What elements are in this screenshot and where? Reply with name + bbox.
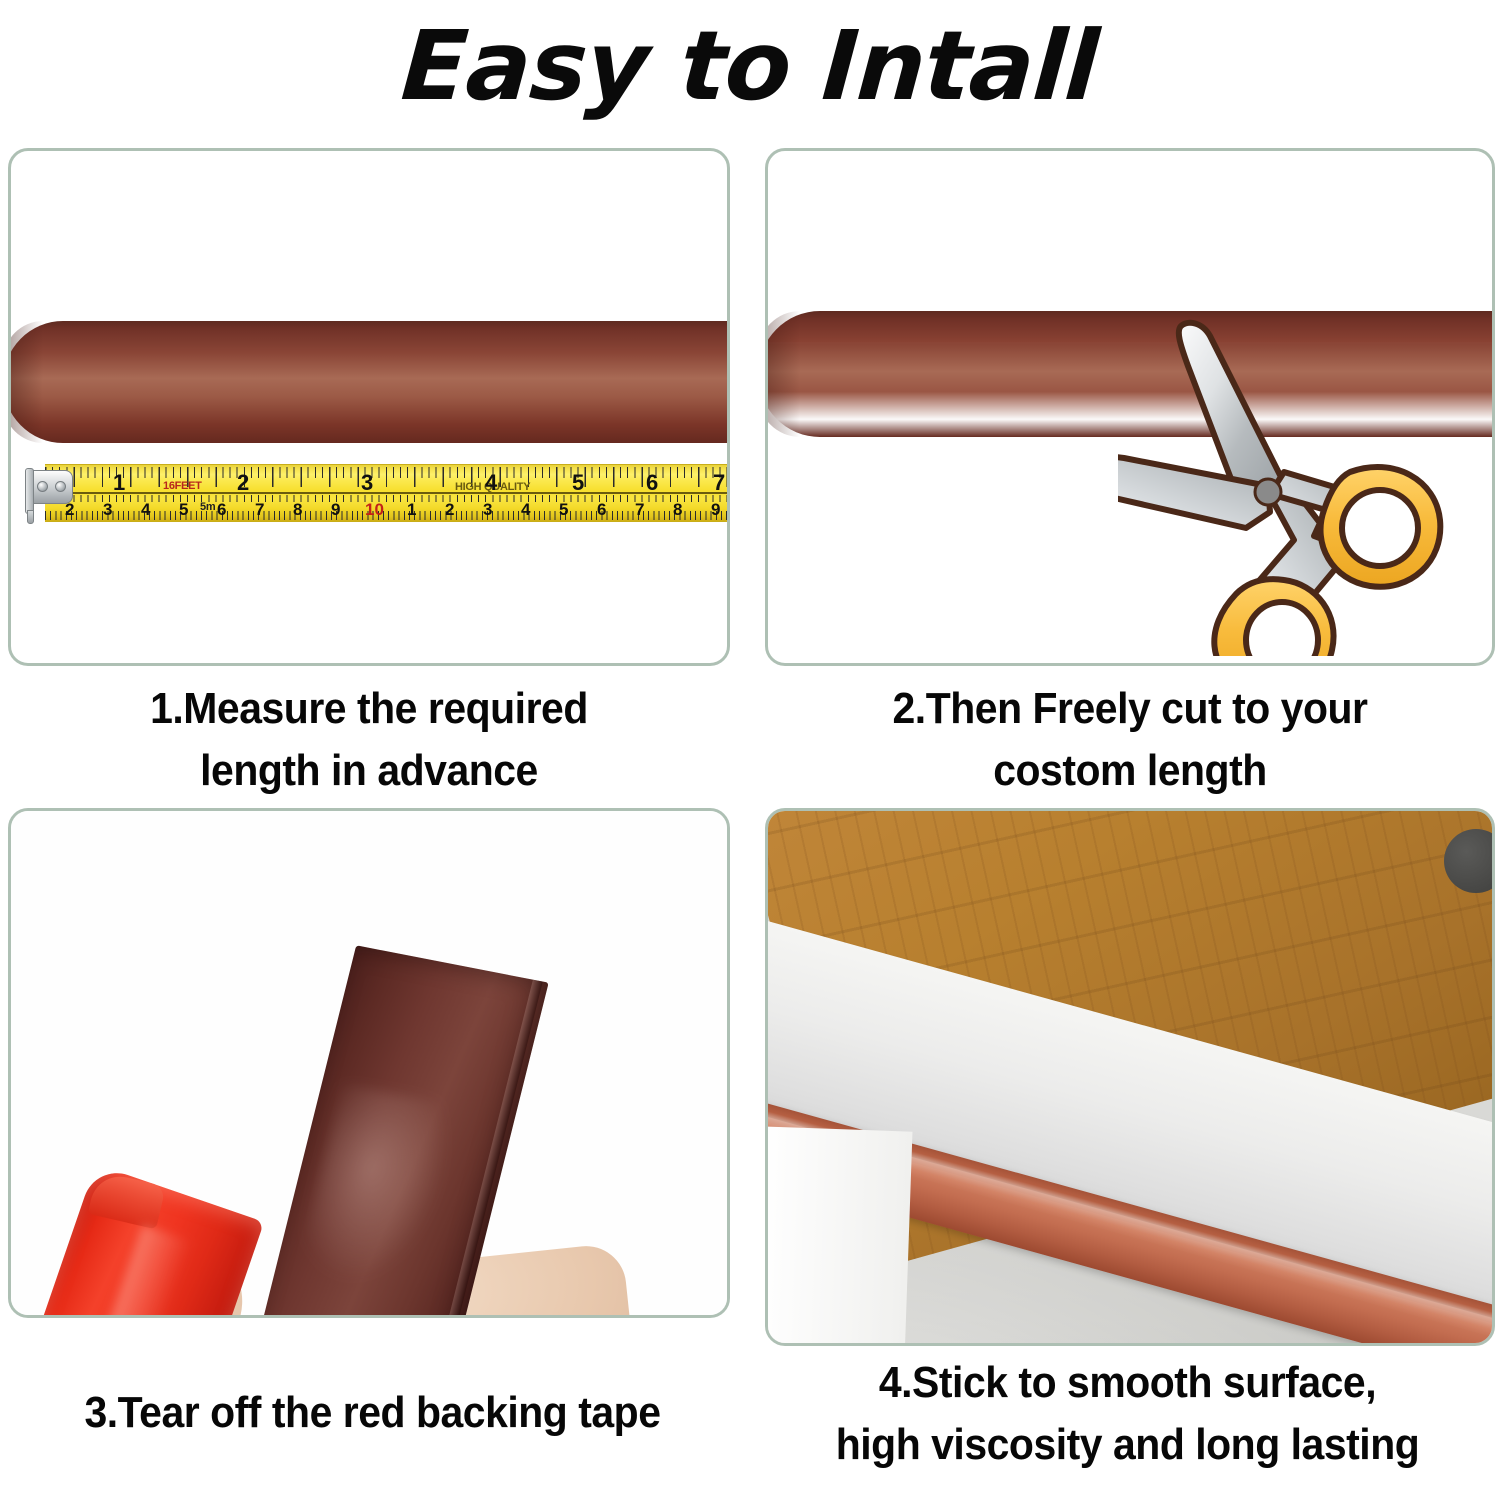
tape-metric-number: 7 [635, 501, 644, 518]
step-panel-cut [765, 148, 1495, 666]
hook-tab [27, 510, 34, 524]
tape-inch-number: 2 [237, 472, 249, 494]
tape-inch-number: 4 [485, 472, 497, 494]
tape-metric-number: 3 [483, 501, 492, 518]
tape-metric-number: 6 [597, 501, 606, 518]
step-caption-stick: 4.Stick to smooth surface, high viscosit… [781, 1352, 1474, 1477]
strip-sheen [295, 1083, 461, 1294]
caption-line-1: 1.Measure the required [33, 678, 704, 740]
tape-metric-number: 1 [407, 501, 416, 518]
step-panel-measure: 16FEET 5m HIGH QUALITY 1 2 3 4 5 6 7 2 3… [8, 148, 730, 666]
tape-inch-number: 6 [646, 472, 658, 494]
page-header: Easy to Intall [0, 0, 1500, 132]
step-caption-cut: 2.Then Freely cut to your costom length [791, 678, 1470, 803]
tape-measure-illustration: 16FEET 5m HIGH QUALITY 1 2 3 4 5 6 7 2 3… [23, 464, 730, 526]
tape-metric-number: 4 [141, 501, 150, 518]
caption-line-1: 2.Then Freely cut to your [791, 678, 1470, 740]
hook-lip [25, 468, 34, 514]
tape-length-metric-label: 5m [200, 502, 215, 513]
step-caption-measure: 1.Measure the required length in advance [33, 678, 704, 803]
tape-metric-number: 5 [559, 501, 568, 518]
backing-tape-sheen [74, 1225, 193, 1318]
caption-line-2: high viscosity and long lasting [781, 1414, 1474, 1476]
backing-tape-fold [88, 1171, 166, 1230]
peel-photo [11, 811, 727, 1315]
tape-ticks-tall [45, 467, 730, 487]
wall-corner [768, 1126, 912, 1343]
tape-metric-number-highlight: 10 [365, 501, 384, 518]
tape-metric-number: 5 [179, 501, 188, 518]
tape-center-line [45, 492, 730, 494]
tape-metric-number: 4 [521, 501, 530, 518]
scissors-icon [1118, 296, 1478, 656]
tape-metric-number: 6 [217, 501, 226, 518]
caption-line-2: length in advance [33, 740, 704, 802]
brown-strip-illustration [8, 321, 730, 443]
step-caption-peel: 3.Tear off the red backing tape [26, 1382, 719, 1444]
caption-line-1: 4.Stick to smooth surface, [781, 1352, 1474, 1414]
tape-metric-number: 9 [331, 501, 340, 518]
tape-measure-hook-icon [23, 468, 73, 516]
tape-inch-number: 7 [713, 472, 725, 494]
step-panel-peel [8, 808, 730, 1318]
red-backing-tape [8, 1164, 264, 1318]
tape-metric-number: 2 [445, 501, 454, 518]
tape-metric-number: 3 [103, 501, 112, 518]
tape-inch-number: 3 [361, 472, 373, 494]
tape-length-imperial-label: 16FEET [163, 481, 202, 492]
page-title: Easy to Intall [399, 18, 1101, 114]
hook-rivet [55, 481, 66, 492]
hook-rivet [37, 481, 48, 492]
tape-metric-number: 7 [255, 501, 264, 518]
tape-inch-number: 5 [572, 472, 584, 494]
caption-line-2: costom length [791, 740, 1470, 802]
hook-plate [29, 470, 73, 504]
tape-inch-number: 1 [113, 472, 125, 494]
caption-line-1: 3.Tear off the red backing tape [26, 1382, 719, 1444]
tape-metric-number: 8 [673, 501, 682, 518]
tape-metric-number: 9 [711, 501, 720, 518]
step-panel-stick [765, 808, 1495, 1346]
installed-photo [768, 811, 1492, 1343]
tape-metric-number: 8 [293, 501, 302, 518]
